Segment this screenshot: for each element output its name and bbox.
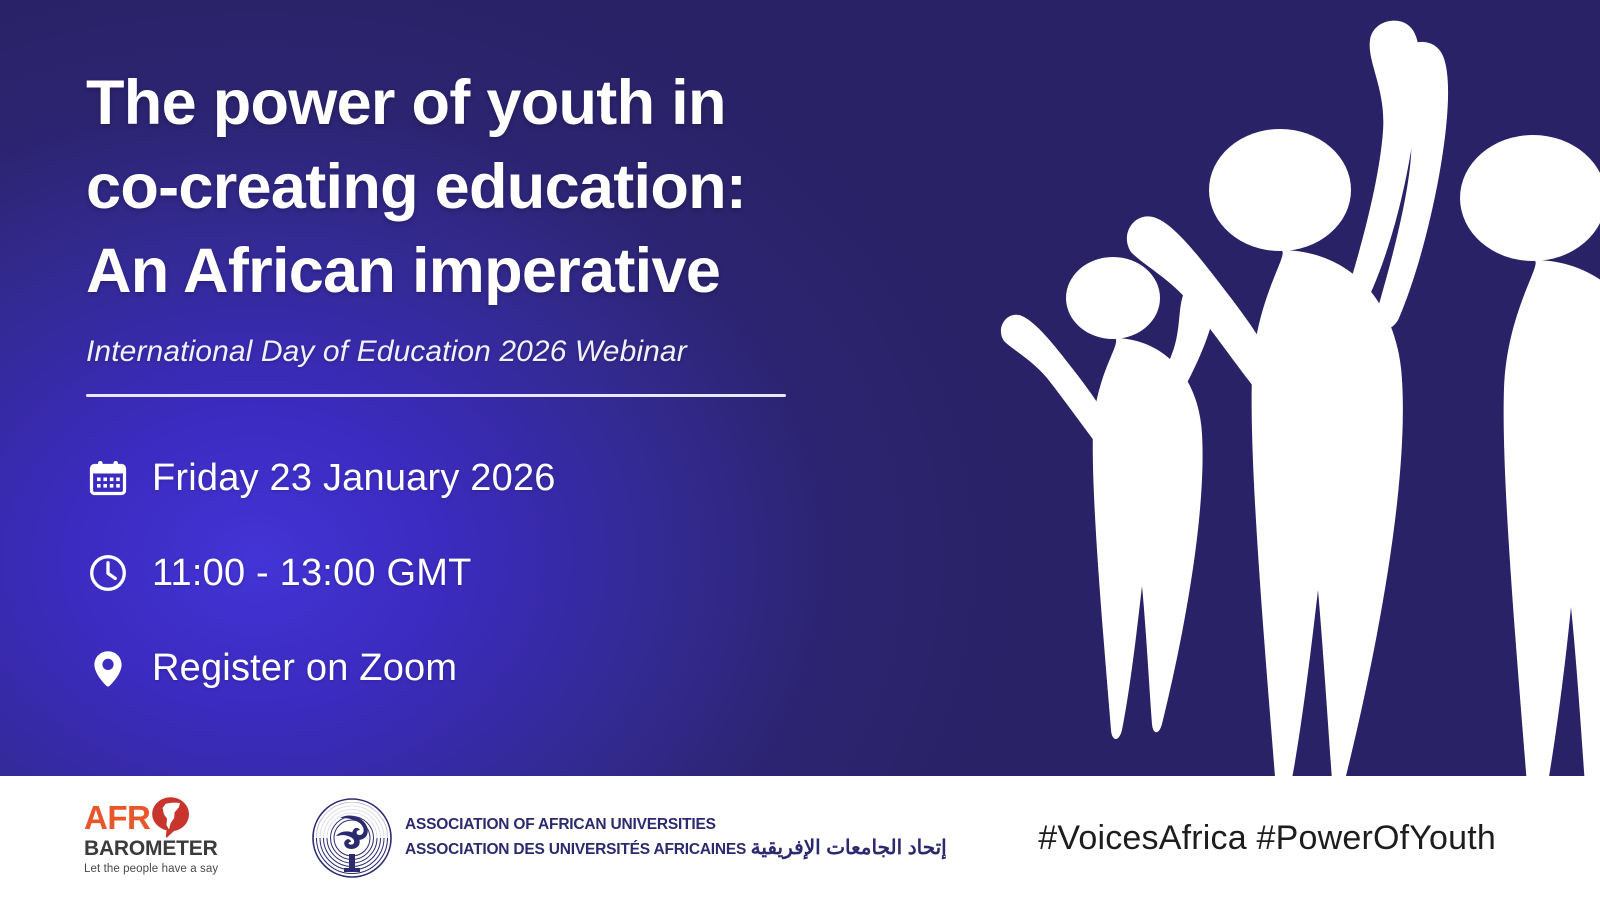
hashtags-text: #VoicesAfrica #PowerOfYouth [1038,819,1496,858]
hero-gradient-background: The power of youth in co-creating educat… [0,0,1600,776]
calendar-icon [86,456,130,500]
webinar-promo-poster: The power of youth in co-creating educat… [0,0,1600,900]
event-subtitle: International Day of Education 2026 Webi… [86,335,826,369]
footer-bar: AFR BAROMETER Let the people have a say [0,776,1600,900]
detail-date-text: Friday 23 January 2026 [152,457,556,500]
afrobarometer-barometer-text: BAROMETER [84,838,252,859]
location-pin-icon [86,646,130,690]
afrobarometer-logo: AFR BAROMETER Let the people have a say [84,800,252,876]
divider-rule [86,394,786,397]
aau-logo: ASSOCIATION OF AFRICAN UNIVERSITIES ASSO… [310,796,947,880]
aau-line-french: ASSOCIATION DES UNIVERSITÉS AFRICAINES [405,841,746,858]
aau-line-arabic: إتحاد الجامعات الإفريقية [751,837,947,859]
aau-circular-emblem-icon [310,796,394,880]
clock-icon [86,551,130,595]
detail-location-text[interactable]: Register on Zoom [152,647,457,690]
detail-row-date: Friday 23 January 2026 [86,447,826,509]
aau-text-block: ASSOCIATION OF AFRICAN UNIVERSITIES ASSO… [405,815,947,860]
event-details-list: Friday 23 January 2026 11:00 - 13:00 GMT [86,447,826,699]
headline-line-3: An African imperative [86,230,826,314]
detail-row-location[interactable]: Register on Zoom [86,637,826,699]
detail-time-text: 11:00 - 13:00 GMT [152,552,472,595]
partner-logos: AFR BAROMETER Let the people have a say [84,796,947,880]
afrobarometer-tagline: Let the people have a say [84,864,252,876]
three-celebrating-figures-illustration [980,0,1600,776]
africa-speech-bubble-icon [151,796,191,838]
aau-line-english: ASSOCIATION OF AFRICAN UNIVERSITIES [405,816,716,833]
headline-line-2: co-creating education: [86,146,826,230]
headline-line-1: The power of youth in [86,62,826,146]
page-title: The power of youth in co-creating educat… [86,62,826,313]
hero-copy-column: The power of youth in co-creating educat… [86,62,826,699]
afrobarometer-afro-text: AFR [84,801,150,834]
detail-row-time: 11:00 - 13:00 GMT [86,542,826,604]
afrobarometer-wordmark-row: AFR [84,800,252,834]
